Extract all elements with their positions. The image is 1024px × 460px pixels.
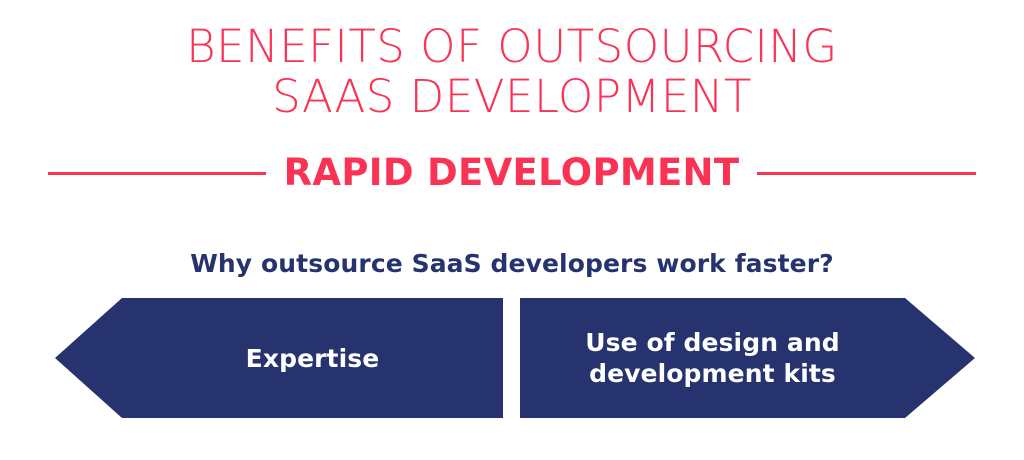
section-heading-label: RAPID DEVELOPMENT	[266, 153, 758, 193]
chevron-item-expertise: Expertise	[55, 298, 503, 418]
question-text: Why outsource SaaS developers work faste…	[0, 248, 1024, 280]
chevron-label: Expertise	[246, 343, 380, 374]
chevron-row: Expertise Use of design anddevelopment k…	[0, 298, 1024, 418]
chevron-label: Use of design anddevelopment kits	[585, 327, 840, 389]
divider-rule-left	[48, 172, 266, 175]
divider-rule-right	[757, 172, 976, 175]
page-title-line-2: SAAS DEVELOPMENT	[0, 72, 1024, 122]
page-title: BENEFITS OF OUTSOURCING SAAS DEVELOPMENT	[0, 22, 1024, 122]
chevron-item-design-kits: Use of design anddevelopment kits	[520, 298, 975, 418]
section-heading: RAPID DEVELOPMENT	[0, 148, 1024, 198]
slide-canvas: BENEFITS OF OUTSOURCING SAAS DEVELOPMENT…	[0, 0, 1024, 460]
page-title-line-1: BENEFITS OF OUTSOURCING	[0, 22, 1024, 72]
